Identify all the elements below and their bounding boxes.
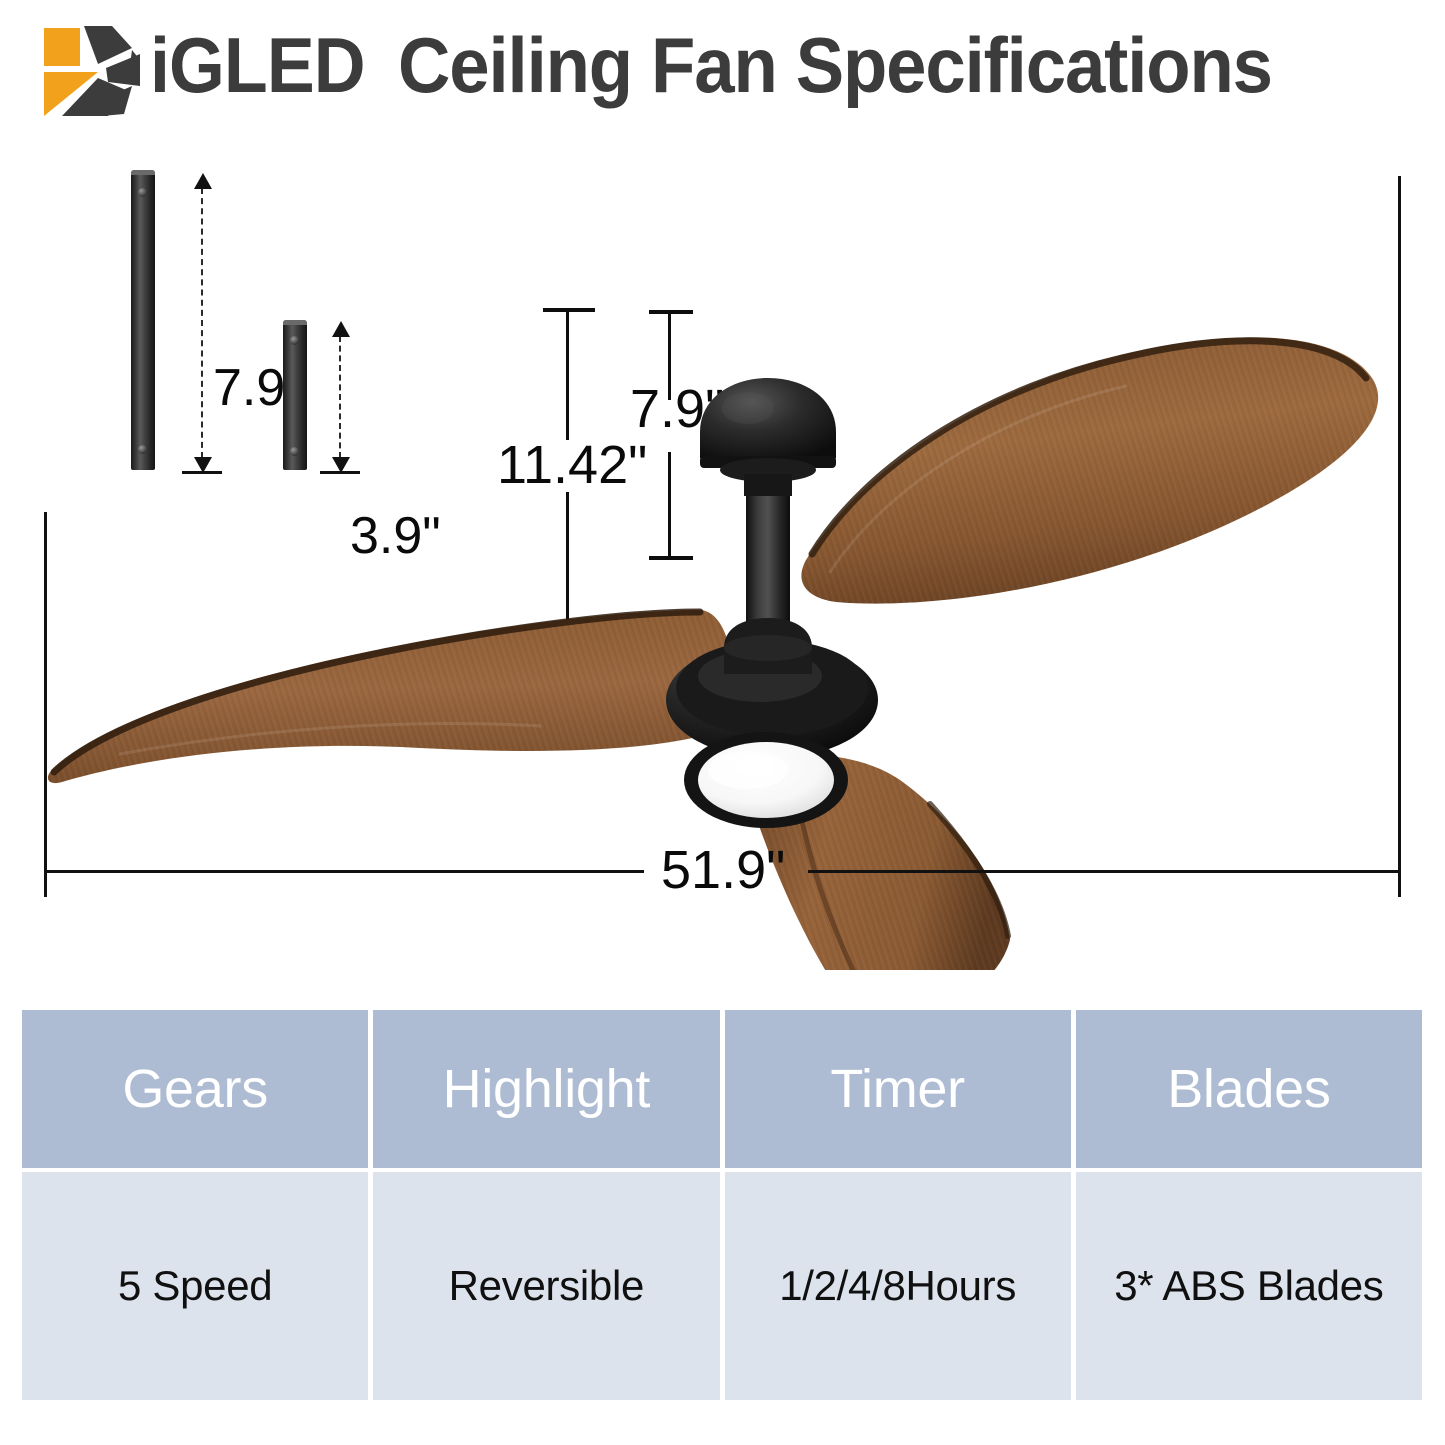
spec-table-header-row: Gears Highlight Timer Blades <box>22 1010 1422 1172</box>
aperture-d-logo-icon <box>36 20 148 120</box>
spec-value-gears: 5 Speed <box>22 1172 373 1400</box>
fan-downrod <box>724 490 812 674</box>
spec-value-timer: 1/2/4/8Hours <box>725 1172 1076 1400</box>
page-header: iGLED Ceiling Fan Specifications <box>0 0 1445 140</box>
span-extension-line-right <box>1398 176 1401 897</box>
specifications-table: Gears Highlight Timer Blades 5 Speed Rev… <box>22 1010 1422 1400</box>
spec-header-gears: Gears <box>22 1010 373 1172</box>
spec-value-highlight: Reversible <box>373 1172 724 1400</box>
ceiling-canopy <box>700 378 836 496</box>
span-extension-line-left <box>44 512 47 897</box>
spec-value-blades: 3* ABS Blades <box>1076 1172 1422 1400</box>
span-dimension-line-left <box>44 870 644 873</box>
brand-name: iGLED <box>150 26 365 104</box>
spec-header-timer: Timer <box>725 1010 1076 1172</box>
blade-span-dimension-label: 51.9" <box>661 843 785 897</box>
fan-blade-right <box>801 337 1378 603</box>
led-light-disc <box>684 732 848 828</box>
ceiling-fan-dimension-diagram: 7.9" 3.9" 11.42" 7.9" <box>0 140 1445 970</box>
span-dimension-line-right <box>808 870 1400 873</box>
spec-header-highlight: Highlight <box>373 1010 724 1172</box>
spec-header-blades: Blades <box>1076 1010 1422 1172</box>
page-title: Ceiling Fan Specifications <box>398 26 1272 104</box>
spec-table-row: 5 Speed Reversible 1/2/4/8Hours 3* ABS B… <box>22 1172 1422 1400</box>
fan-blade-left <box>48 610 733 783</box>
